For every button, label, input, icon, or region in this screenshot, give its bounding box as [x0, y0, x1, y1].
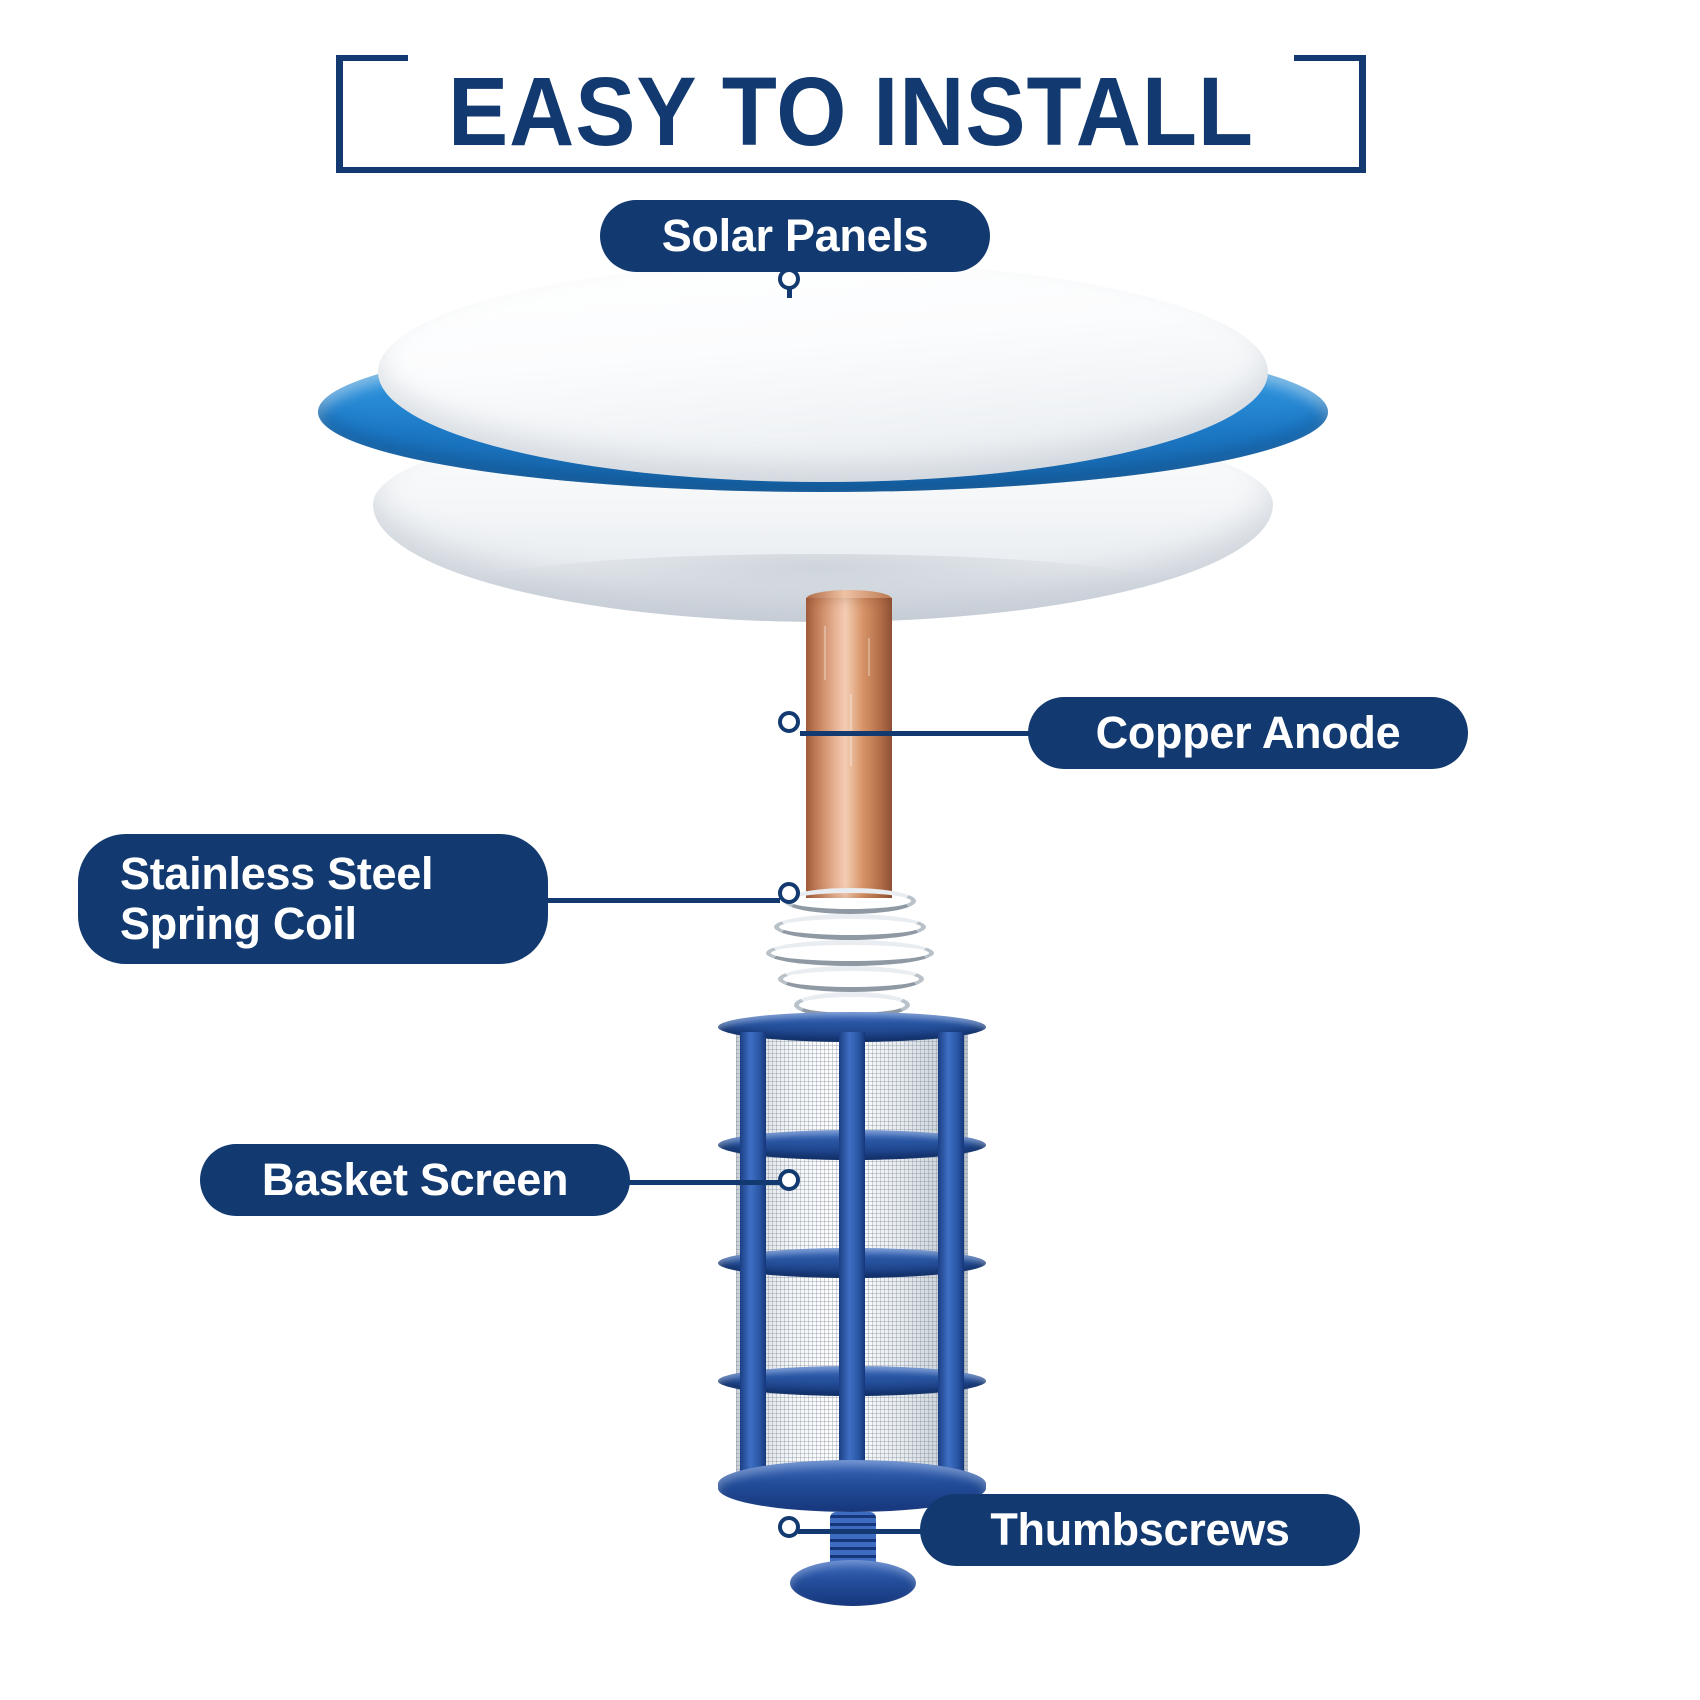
- coil-turn-4: [778, 966, 924, 992]
- bracket-left-edge: [336, 55, 343, 173]
- solar-panel-dome: [378, 262, 1268, 482]
- callout-dot-thumbscrews: [778, 1516, 800, 1538]
- callout-label-spring-coil-lines: Stainless Steel Spring Coil: [120, 849, 433, 950]
- callout-dot-spring-coil: [778, 882, 800, 904]
- bracket-bottom-edge: [336, 167, 1366, 173]
- callout-label-spring-coil[interactable]: Stainless Steel Spring Coil: [78, 834, 548, 964]
- anode-scratch-3: [868, 638, 870, 676]
- leader-line-copper-anode: [800, 731, 1030, 736]
- basket-rib-left: [740, 1032, 766, 1494]
- basket-rib-center: [839, 1032, 865, 1494]
- callout-label-thumbscrews[interactable]: Thumbscrews: [920, 1494, 1360, 1566]
- solar-float-assembly: [318, 262, 1328, 642]
- leader-line-thumbscrews: [798, 1529, 922, 1534]
- copper-anode-rod: [806, 598, 892, 898]
- coil-turn-2: [774, 914, 926, 940]
- spring-coil-line-1: Stainless Steel: [120, 848, 433, 899]
- leader-line-basket-screen: [628, 1180, 780, 1185]
- callout-dot-copper-anode: [778, 711, 800, 733]
- callout-dot-basket-screen: [778, 1169, 800, 1191]
- anode-scratch-2: [850, 694, 852, 766]
- anode-scratch-1: [824, 626, 826, 680]
- bracket-right-edge: [1359, 55, 1366, 173]
- title-bracket-frame: EASY TO INSTALL: [336, 55, 1366, 173]
- basket-rib-right: [938, 1032, 964, 1494]
- callout-label-copper-anode[interactable]: Copper Anode: [1028, 697, 1468, 769]
- thumbscrew-head: [790, 1560, 916, 1606]
- spring-coil-line-2: Spring Coil: [120, 898, 357, 949]
- callout-label-basket-screen[interactable]: Basket Screen: [200, 1144, 630, 1216]
- stainless-spring-coil: [760, 888, 940, 1024]
- callout-label-solar-panels[interactable]: Solar Panels: [600, 200, 990, 272]
- leader-line-spring-coil: [546, 898, 780, 903]
- coil-turn-3: [766, 940, 934, 966]
- basket-screen-assembly: [718, 1012, 986, 1512]
- coil-turn-1: [784, 888, 916, 914]
- page-title: EASY TO INSTALL: [372, 55, 1330, 167]
